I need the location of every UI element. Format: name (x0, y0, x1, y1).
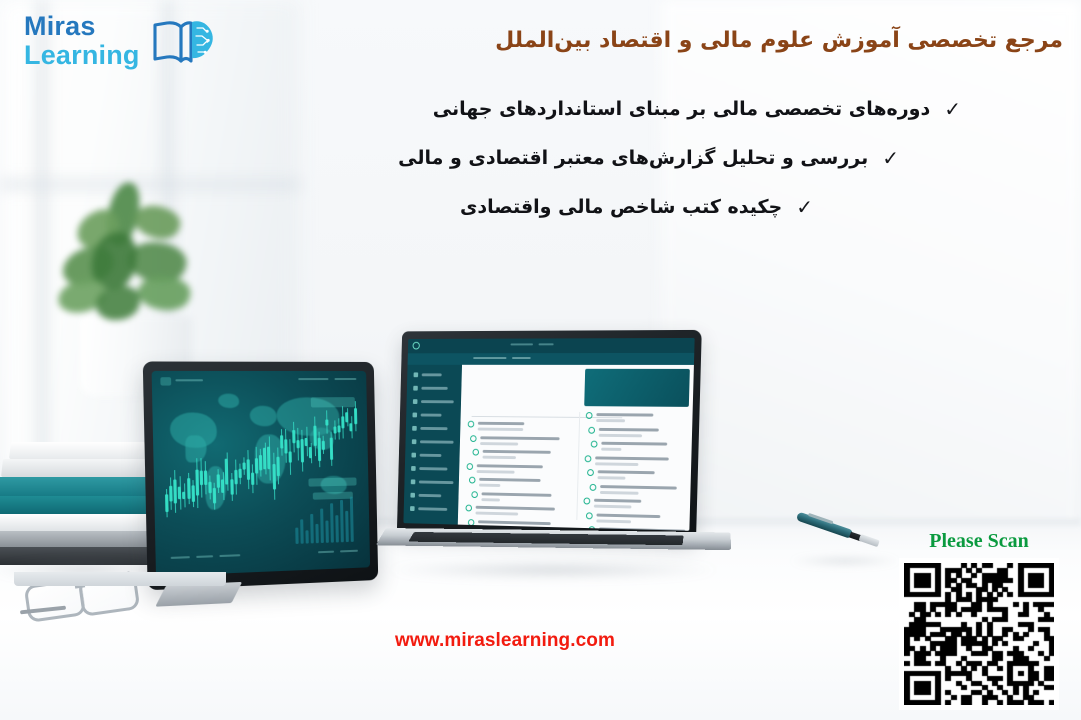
candle-body (280, 436, 283, 449)
list-item-subtitle (600, 490, 638, 494)
dashboard-topbar-line (511, 343, 533, 345)
list-item-title (601, 442, 667, 446)
sidebar-item-icon[interactable] (411, 453, 416, 458)
candle-body (272, 464, 276, 489)
tablet-screen (152, 371, 371, 576)
candle-body (204, 470, 207, 485)
laptop-lid (397, 330, 702, 540)
candle-body (187, 478, 191, 498)
list-item-subtitle (596, 419, 625, 422)
tablet-panel-chip (311, 397, 355, 407)
sidebar-item-icon[interactable] (412, 413, 417, 418)
sidebar-item-icon[interactable] (412, 439, 417, 444)
tablet-foot (14, 572, 226, 586)
list-item-title (596, 513, 660, 518)
sidebar-item-icon[interactable] (411, 479, 416, 484)
laptop-device (378, 330, 723, 580)
candle-body (292, 430, 295, 443)
list-item: ✓ بررسی و تحلیل گزارش‌های معتبر اقتصادی … (111, 147, 899, 169)
list-item-title (483, 450, 551, 454)
candle-body (338, 425, 341, 432)
open-book-brain-icon (150, 12, 218, 70)
tablet-volume-bar (295, 528, 298, 544)
check-icon: ✓ (796, 197, 813, 217)
tablet-volume-bar (310, 514, 314, 543)
list-item-subtitle (475, 512, 518, 516)
list-item-title (600, 485, 676, 489)
sidebar-item-icon[interactable] (414, 372, 419, 377)
candle-body (345, 412, 348, 421)
pen-shadow (790, 556, 900, 566)
background-right-wall (661, 0, 1081, 560)
list-item-title (480, 436, 560, 440)
candle-body (276, 456, 279, 475)
tablet-status-chip (160, 377, 171, 385)
brand-name-top: Miras (24, 13, 140, 40)
tablet-volume-bar (305, 530, 308, 543)
candle-body (234, 469, 237, 484)
candle-body (325, 419, 328, 426)
dashboard-topbar-line (539, 343, 554, 345)
tablet-header-line (175, 379, 203, 381)
dashboard-topbar (408, 338, 695, 353)
window-frame-vertical-1 (34, 0, 50, 470)
dashboard-topbar-line (512, 357, 531, 359)
brand-wordmark: Miras Learning (24, 13, 140, 69)
feature-list: ✓ دوره‌های تخصصی مالی بر مبنای استاندارد… (111, 98, 961, 245)
candle-body (341, 417, 344, 429)
tablet-header-line (298, 378, 328, 380)
book-item (0, 477, 153, 496)
candle-body (317, 438, 321, 462)
book-item (9, 442, 151, 459)
website-url[interactable]: www.miraslearning.com (0, 630, 1010, 652)
list-item-subtitle (601, 448, 621, 451)
candle-body (354, 409, 357, 425)
candle-body (195, 470, 199, 496)
sidebar-item-label (420, 454, 442, 457)
list-item-title (599, 427, 659, 431)
candle-body (165, 494, 169, 512)
list-item-status-icon[interactable] (586, 512, 593, 519)
list-item-subtitle (480, 442, 518, 445)
list-item-status-icon[interactable] (470, 435, 477, 442)
list-item-title (482, 492, 552, 496)
candle-body (230, 479, 233, 495)
tablet-body (143, 361, 379, 590)
book-item (0, 514, 154, 531)
candle-body (259, 455, 262, 470)
candle-body (288, 451, 291, 463)
list-item-subtitle (482, 456, 515, 459)
qr-code-canvas[interactable] (904, 563, 1054, 705)
candle-body (217, 475, 220, 488)
list-item-label: بررسی و تحلیل گزارش‌های معتبر اقتصادی و … (398, 147, 868, 169)
banner-canvas: Miras Learning مرجع تخصصی آموزش علوم مال… (0, 0, 1081, 720)
list-item-status-icon[interactable] (583, 498, 590, 505)
laptop-shadow (388, 562, 718, 578)
list-item-subtitle (478, 428, 523, 431)
tablet-device (143, 361, 379, 590)
qr-block: Please Scan (895, 530, 1063, 712)
list-item-title (596, 413, 653, 416)
check-icon: ✓ (882, 148, 899, 168)
dashboard-column-divider (576, 412, 580, 520)
candle-body (238, 469, 241, 478)
list-item-subtitle (481, 498, 500, 501)
brand-name-bottom: Learning (24, 42, 140, 69)
sidebar-item-icon[interactable] (413, 386, 418, 391)
candle-body (313, 426, 316, 446)
dashboard-hero-card (584, 369, 690, 407)
list-item-title (476, 506, 555, 511)
list-item-status-icon[interactable] (469, 477, 476, 484)
laptop-screen (403, 338, 694, 531)
tablet-volume-bar (300, 519, 304, 543)
tablet-header-line (334, 378, 356, 380)
candle-body (251, 472, 254, 485)
candle-body (321, 440, 324, 450)
list-item-subtitle (599, 433, 642, 436)
sidebar-item-label (421, 387, 447, 390)
candle-body (333, 427, 336, 434)
check-icon: ✓ (944, 99, 961, 119)
list-item-status-icon[interactable] (585, 455, 592, 462)
candle-body (255, 458, 258, 473)
list-item-title (477, 464, 543, 468)
list-item-subtitle (595, 462, 638, 466)
sidebar-item-label (421, 400, 454, 403)
tablet-panel-chip (313, 492, 353, 500)
candle-body (208, 482, 211, 494)
candle-body (178, 487, 181, 499)
sidebar-item-icon[interactable] (411, 466, 416, 471)
list-item: ✓ دوره‌های تخصصی مالی بر مبنای استاندارد… (111, 98, 961, 120)
tablet-volume-bar (335, 515, 339, 542)
candle-body (169, 486, 173, 502)
candle-body (284, 439, 287, 453)
book-item (0, 496, 153, 514)
dashboard-content (458, 365, 694, 531)
candle-body (191, 485, 195, 501)
sidebar-item-label (419, 494, 442, 497)
list-item-label: دوره‌های تخصصی مالی بر مبنای استانداردها… (433, 98, 931, 120)
candle-body (199, 470, 203, 486)
list-item-subtitle (596, 519, 631, 523)
candle-body (242, 462, 245, 470)
sidebar-item-icon[interactable] (410, 506, 415, 511)
sidebar-item-icon[interactable] (410, 493, 415, 498)
list-item-subtitle (597, 476, 625, 479)
sidebar-item-icon[interactable] (413, 399, 418, 404)
list-item-status-icon[interactable] (468, 519, 475, 526)
candle-body (221, 479, 224, 493)
list-item-status-icon[interactable] (467, 463, 474, 470)
book-item (1, 459, 153, 477)
list-item-status-icon[interactable] (588, 426, 595, 433)
tablet-volume-bar (315, 524, 318, 543)
qr-title: Please Scan (895, 530, 1063, 553)
list-item-title (478, 520, 551, 525)
list-item-status-icon[interactable] (472, 449, 479, 456)
list-item-status-icon[interactable] (465, 505, 472, 512)
sidebar-item-icon[interactable] (412, 426, 417, 431)
brand-logo[interactable]: Miras Learning (24, 12, 218, 70)
candle-body (246, 459, 250, 479)
list-item-title (478, 422, 525, 425)
list-item-title (595, 456, 669, 460)
stacked-books (0, 442, 168, 566)
list-item-status-icon[interactable] (468, 421, 475, 428)
tablet-panel-chip (308, 477, 356, 486)
list-item-subtitle (594, 505, 631, 509)
list-item-status-icon[interactable] (587, 469, 594, 476)
dashboard-subbar (408, 353, 695, 365)
list-item-title (479, 478, 540, 482)
list-item-status-icon[interactable] (590, 483, 597, 490)
qr-code[interactable] (899, 558, 1059, 710)
sidebar-item-label (419, 467, 447, 470)
list-item-label: چکیده کتب شاخص مالی واقتصادی (460, 196, 782, 218)
sidebar-item-label (422, 373, 442, 375)
list-item-status-icon[interactable] (591, 441, 598, 448)
sidebar-item-label (420, 440, 454, 443)
dashboard-topbar-line (473, 357, 506, 359)
tablet-volume-bar (325, 521, 328, 543)
sidebar-item-label (421, 414, 442, 417)
candle-body (297, 440, 300, 448)
page-title: مرجع تخصصی آموزش علوم مالی و اقتصاد بین‌… (495, 28, 1063, 53)
list-item: ✓ چکیده کتب شاخص مالی واقتصادی (111, 196, 813, 218)
tablet-volume-bar (345, 511, 349, 542)
book-item (0, 531, 154, 547)
list-item-subtitle (477, 470, 515, 474)
list-item-status-icon[interactable] (471, 491, 478, 498)
list-item-subtitle (479, 484, 501, 487)
candle-body (330, 437, 333, 460)
list-item-title (598, 470, 655, 474)
candle-body (305, 437, 308, 446)
list-item-title (594, 499, 642, 503)
sidebar-item-label (420, 427, 447, 430)
candle-body (213, 488, 216, 504)
